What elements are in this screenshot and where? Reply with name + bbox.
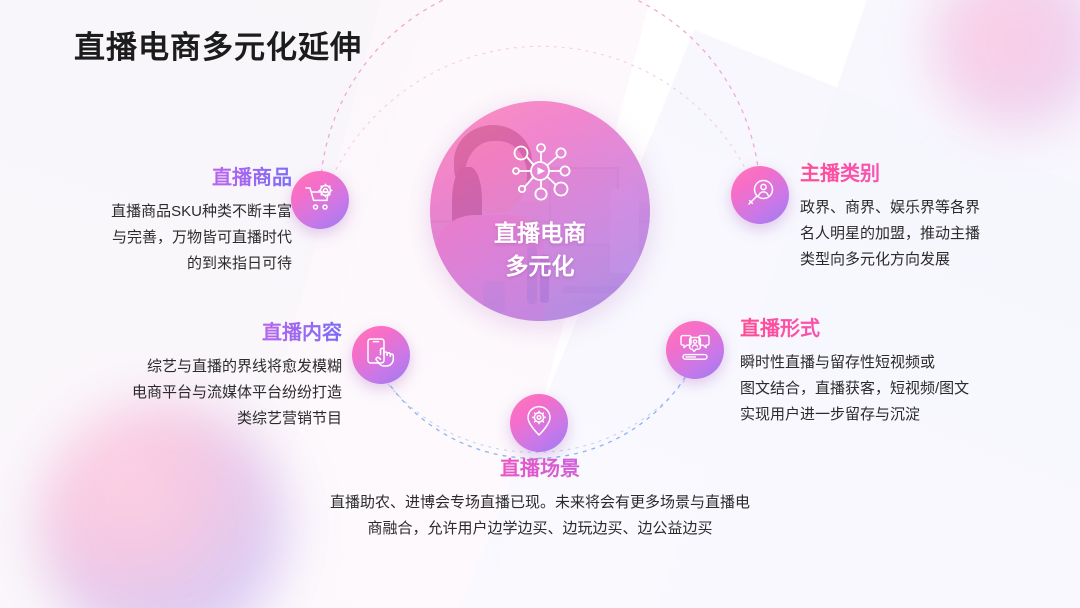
chat-bubbles-person-icon	[679, 333, 711, 368]
body-form: 瞬时性直播与留存性短视频或 图文结合，直播获客，短视频/图文 实现用户进一步留存…	[740, 350, 1022, 428]
body-scene: 直播助农、进博会专场直播已现。未来将会有更多场景与直播电 商融合，允许用户边学边…	[270, 490, 810, 542]
heading-goods: 直播商品	[40, 164, 292, 192]
network-play-hub-icon	[504, 140, 576, 207]
heading-content: 直播内容	[70, 319, 342, 347]
magnifier-person-icon	[745, 178, 775, 213]
icon-bubble-goods[interactable]	[291, 171, 349, 229]
heading-scene: 直播场景	[270, 455, 810, 483]
icon-bubble-scene[interactable]	[510, 394, 568, 452]
text-block-goods: 直播商品 直播商品SKU种类不断丰富 与完善，万物皆可直播时代 的到来指日可待	[40, 164, 292, 277]
body-content: 综艺与直播的界线将愈发模糊 电商平台与流媒体平台纷纷打造 类综艺营销节目	[70, 354, 342, 432]
location-pin-gear-icon	[525, 405, 553, 442]
text-block-scene: 直播场景 直播助农、进博会专场直播已现。未来将会有更多场景与直播电 商融合，允许…	[270, 455, 810, 542]
phone-tap-hand-icon	[366, 337, 396, 374]
hub-title-line-1: 直播电商	[494, 217, 586, 250]
icon-bubble-anchor[interactable]	[731, 166, 789, 224]
text-block-form: 直播形式 瞬时性直播与留存性短视频或 图文结合，直播获客，短视频/图文 实现用户…	[740, 315, 1022, 428]
body-anchor: 政界、商界、娱乐界等各界 名人明星的加盟，推动主播 类型向多元化方向发展	[800, 195, 1050, 273]
decorative-orb-top-right	[932, 0, 1080, 128]
shopping-cart-gear-icon	[304, 183, 336, 218]
slide-canvas: 直播电商多元化延伸	[0, 0, 1080, 608]
icon-bubble-content[interactable]	[352, 326, 410, 384]
heading-anchor: 主播类别	[800, 160, 1050, 188]
page-title: 直播电商多元化延伸	[74, 26, 362, 70]
decorative-orb-bottom-left	[38, 402, 286, 608]
hub-title-line-2: 多元化	[494, 250, 586, 283]
heading-form: 直播形式	[740, 315, 1022, 343]
body-goods: 直播商品SKU种类不断丰富 与完善，万物皆可直播时代 的到来指日可待	[40, 199, 292, 277]
text-block-content: 直播内容 综艺与直播的界线将愈发模糊 电商平台与流媒体平台纷纷打造 类综艺营销节…	[70, 319, 342, 432]
center-hub[interactable]: 直播电商 多元化	[430, 101, 650, 321]
icon-bubble-form[interactable]	[666, 321, 724, 379]
text-block-anchor: 主播类别 政界、商界、娱乐界等各界 名人明星的加盟，推动主播 类型向多元化方向发…	[800, 160, 1050, 273]
